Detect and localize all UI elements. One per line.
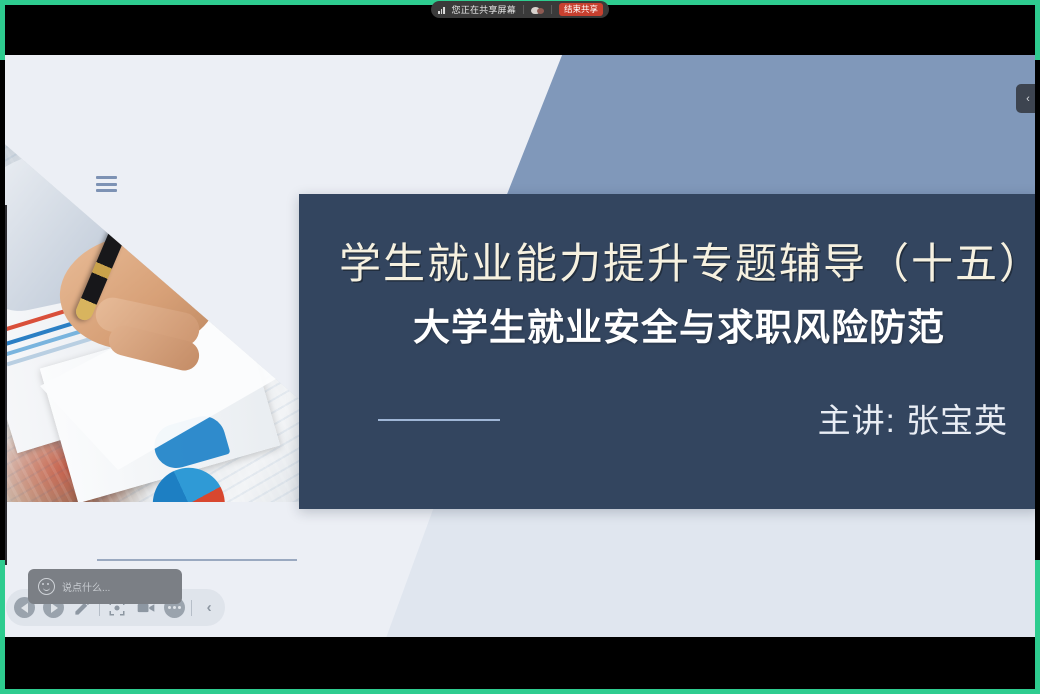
letterbox-mask-right [1035, 60, 1040, 560]
hamburger-menu-icon[interactable] [96, 176, 117, 192]
status-divider [551, 5, 552, 14]
slide-top-banner-shape [500, 55, 1040, 212]
hamburger-bar [96, 176, 117, 179]
end-share-button[interactable]: 结束共享 [559, 3, 603, 16]
screen-share-status-bar[interactable]: 您正在共享屏幕 结束共享 [431, 1, 609, 18]
title-divider [378, 419, 500, 421]
letterbox-mask-left [0, 60, 5, 560]
photo-underline-rule [97, 559, 297, 561]
title-card: 学生就业能力提升专题辅导（十五） 大学生就业安全与求职风险防范 主讲: 张宝英 [299, 194, 1040, 509]
chevron-left-icon: ‹ [207, 600, 212, 615]
hamburger-bar [96, 183, 117, 186]
comment-placeholder: 说点什么... [62, 579, 110, 594]
chevron-left-icon: ‹ [1026, 93, 1030, 105]
page-title: 学生就业能力提升专题辅导（十五） [339, 230, 1009, 291]
presenter-name: 主讲: 张宝英 [818, 394, 1008, 442]
smiley-face-icon[interactable] [38, 578, 55, 595]
signal-bars-icon [438, 6, 445, 14]
comment-input[interactable]: 说点什么... [28, 569, 182, 604]
hamburger-bar [96, 189, 117, 192]
screen-share-view: 学生就业能力提升专题辅导（十五） 大学生就业安全与求职风险防范 主讲: 张宝英 … [0, 0, 1040, 694]
share-frame-bottom [0, 689, 1040, 694]
status-divider [523, 5, 524, 14]
share-status-text: 您正在共享屏幕 [452, 3, 516, 16]
paint-blob-icon[interactable] [531, 5, 544, 15]
page-subtitle: 大学生就业安全与求职风险防范 [413, 297, 1033, 351]
toolbar-divider [191, 600, 192, 616]
shared-slide-canvas[interactable]: 学生就业能力提升专题辅导（十五） 大学生就业安全与求职风险防范 主讲: 张宝英 … [0, 55, 1040, 637]
collapse-toolbar-button[interactable]: ‹ [196, 593, 222, 622]
